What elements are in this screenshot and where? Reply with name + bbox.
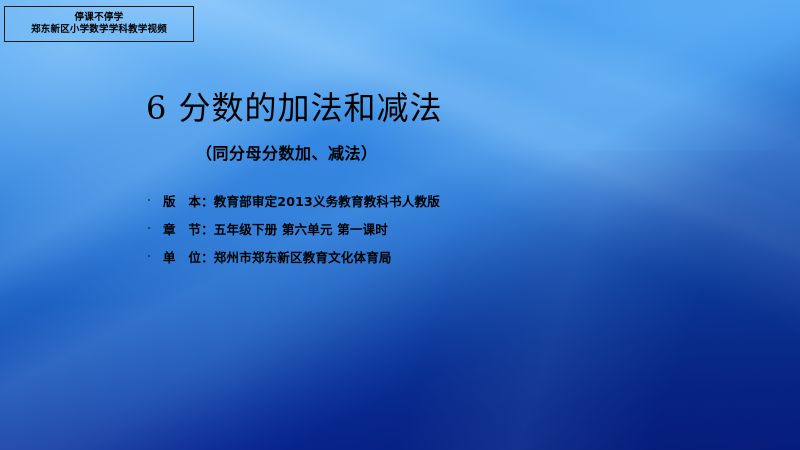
presentation-slide: 停课不停学 郑东新区小学数学学科教学视频 6 分数的加法和减法 （同分母分数加、… xyxy=(0,0,800,450)
header-badge-line-2: 郑东新区小学数学学科教学视频 xyxy=(31,25,167,36)
slide-subtitle: （同分母分数加、减法） xyxy=(196,140,378,164)
list-item: 章 节：五年级下册 第六单元 第一课时 xyxy=(148,214,568,242)
header-badge: 停课不停学 郑东新区小学数学学科教学视频 xyxy=(4,6,194,42)
list-item: 版 本：教育部审定2013义务教育教科书人教版 xyxy=(148,186,568,214)
slide-main-title: 6 分数的加法和减法 xyxy=(146,83,443,129)
dot-bullet-icon xyxy=(148,227,150,229)
list-item-text: 章 节：五年级下册 第六单元 第一课时 xyxy=(163,219,388,238)
list-item: 单 位：郑州市郑东新区教育文化体育局 xyxy=(148,242,568,270)
dot-bullet-icon xyxy=(148,255,150,257)
list-item-text: 版 本：教育部审定2013义务教育教科书人教版 xyxy=(163,191,440,210)
list-item-text: 单 位：郑州市郑东新区教育文化体育局 xyxy=(163,247,392,266)
slide-info-list: 版 本：教育部审定2013义务教育教科书人教版 章 节：五年级下册 第六单元 第… xyxy=(148,186,568,270)
dot-bullet-icon xyxy=(148,199,150,201)
header-badge-line-1: 停课不停学 xyxy=(74,13,123,24)
